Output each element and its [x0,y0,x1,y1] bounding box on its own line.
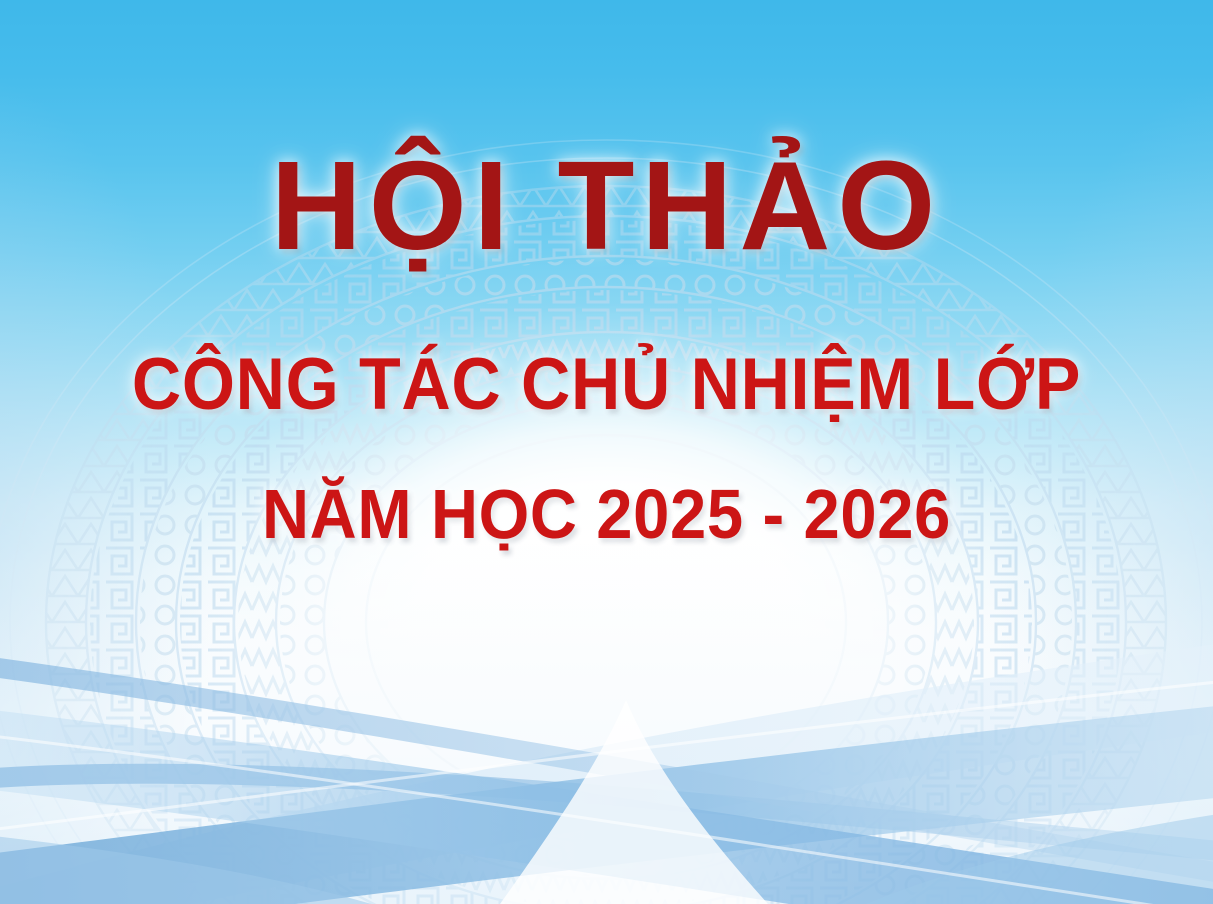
ribbon-bands [0,0,1213,904]
title-slide: HỘI THẢO CÔNG TÁC CHỦ NHIỆM LỚP NĂM HỌC … [0,0,1213,904]
